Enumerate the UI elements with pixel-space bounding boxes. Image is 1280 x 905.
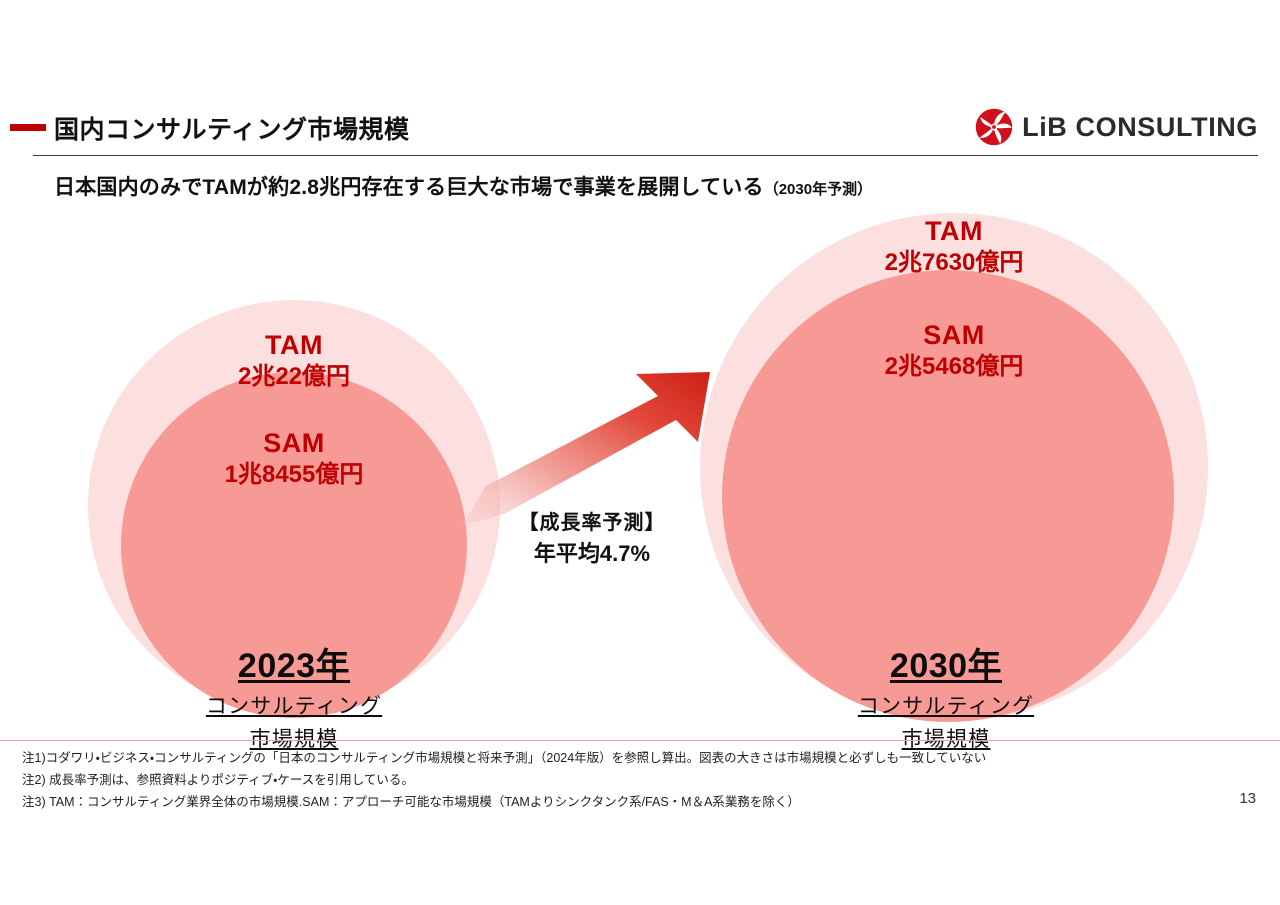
tam-caption: TAM	[828, 216, 1080, 247]
lib-swirl-icon	[975, 108, 1013, 146]
footer-divider	[0, 740, 1280, 741]
header-divider	[33, 155, 1258, 156]
year-caption-line1: コンサルティング	[174, 690, 414, 720]
tam-amount: 2兆7630億円	[828, 249, 1080, 277]
footnotes: 注1)コダワリ・ビジネス・コンサルティングの「日本のコンサルティング市場規模と将…	[22, 748, 1222, 814]
footnote-3: 注3) TAM：コンサルティング業界全体の市場規模.SAM：アプローチ可能な市場…	[22, 792, 1222, 814]
logo-wordmark: LiB CONSULTING	[1022, 112, 1258, 143]
brand-logo: LiB CONSULTING	[975, 108, 1258, 146]
sam-caption: SAM	[824, 320, 1084, 351]
sam-amount: 2兆5468億円	[824, 353, 1084, 381]
footnote-2: 注2) 成長率予測は、参照資料よりポジティブ・ケースを引用している。	[22, 770, 1222, 792]
subtitle: 日本国内のみでTAMが約2.8兆円存在する巨大な市場で事業を展開している（203…	[54, 171, 872, 201]
page-title: 国内コンサルティング市場規模	[54, 110, 410, 146]
sam-label-2023: SAM 1兆8455億円	[168, 428, 420, 489]
header-accent-bar	[10, 124, 46, 131]
growth-title: 【成長率予測】	[474, 506, 710, 535]
tam-label-2030: TAM 2兆7630億円	[828, 216, 1080, 277]
tam-caption: TAM	[173, 330, 415, 361]
growth-callout: 【成長率予測】 年平均4.7%	[474, 506, 710, 568]
sam-caption: SAM	[168, 428, 420, 459]
page-number: 13	[1239, 790, 1256, 807]
tam-amount: 2兆22億円	[173, 363, 415, 391]
year-caption-line1: コンサルティング	[826, 690, 1066, 720]
tam-label-2023: TAM 2兆22億円	[173, 330, 415, 391]
subtitle-note: （2030年予測）	[764, 181, 872, 198]
year-block-2030: 2030年 コンサルティング 市場規模	[826, 638, 1066, 753]
subtitle-main: 日本国内のみでTAMが約2.8兆円存在する巨大な市場で事業を展開している	[54, 176, 764, 199]
year-label: 2023年	[174, 638, 414, 687]
slide-root: 国内コンサルティング市場規模 LiB CONSULTING 日本国内のみでTAM…	[0, 0, 1280, 905]
footnote-1: 注1)コダワリ・ビジネス・コンサルティングの「日本のコンサルティング市場規模と将…	[22, 748, 1222, 770]
sam-label-2030: SAM 2兆5468億円	[824, 320, 1084, 381]
growth-value: 年平均4.7%	[474, 536, 710, 568]
year-block-2023: 2023年 コンサルティング 市場規模	[174, 638, 414, 753]
year-label: 2030年	[826, 638, 1066, 687]
sam-amount: 1兆8455億円	[168, 461, 420, 489]
